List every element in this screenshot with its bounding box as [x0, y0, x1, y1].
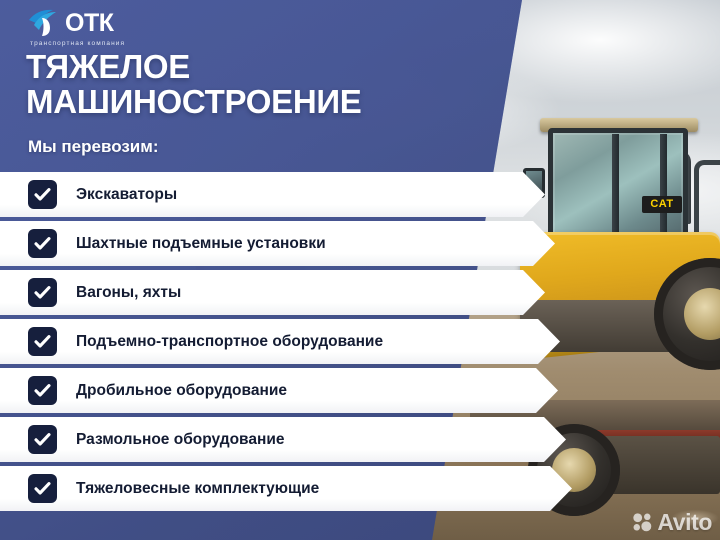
- ad-banner: CAT ОТК транспортная компания ТЯЖЕЛОЕ МА…: [0, 0, 720, 540]
- list-item-label: Вагоны, яхты: [76, 285, 181, 301]
- checkmark-icon: [33, 185, 52, 204]
- checkbox-checked[interactable]: [28, 180, 57, 209]
- list-item-label: Шахтные подъемные установки: [76, 236, 326, 252]
- checkbox-checked[interactable]: [28, 376, 57, 405]
- list-item[interactable]: Размольное оборудование: [0, 417, 720, 462]
- list-item-label: Экскаваторы: [76, 187, 177, 203]
- checkmark-icon: [33, 234, 52, 253]
- avito-circles-icon: [632, 512, 653, 533]
- headline-line-1: ТЯЖЕЛОЕ: [26, 48, 190, 85]
- list-item-label: Дробильное оборудование: [76, 383, 287, 399]
- list-item[interactable]: Экскаваторы: [0, 172, 720, 217]
- checkmark-icon: [33, 430, 52, 449]
- list-item-label: Тяжеловесные комплектующие: [76, 481, 319, 497]
- brand-logo-tagline: транспортная компания: [30, 41, 125, 48]
- otk-swoosh-icon: [28, 8, 62, 38]
- checkmark-icon: [33, 332, 52, 351]
- page-title: ТЯЖЕЛОЕ МАШИНОСТРОЕНИЕ: [26, 50, 496, 120]
- brand-logo-text: ОТК: [65, 11, 113, 36]
- headline-line-2: МАШИНОСТРОЕНИЕ: [26, 85, 496, 120]
- list-item[interactable]: Дробильное оборудование: [0, 368, 720, 413]
- brand-logo[interactable]: ОТК транспортная компания: [28, 8, 125, 48]
- avito-watermark-text: Avito: [657, 511, 712, 534]
- checkmark-icon: [33, 381, 52, 400]
- checkbox-checked[interactable]: [28, 425, 57, 454]
- checkbox-checked[interactable]: [28, 327, 57, 356]
- checkbox-checked[interactable]: [28, 278, 57, 307]
- service-list: ЭкскаваторыШахтные подъемные установкиВа…: [0, 172, 720, 515]
- checkbox-checked[interactable]: [28, 474, 57, 503]
- checkbox-checked[interactable]: [28, 229, 57, 258]
- brand-logo-row: ОТК: [28, 8, 113, 38]
- list-item[interactable]: Подъемно-транспортное оборудование: [0, 319, 720, 364]
- list-item-label: Подъемно-транспортное оборудование: [76, 334, 383, 350]
- checkmark-icon: [33, 479, 52, 498]
- list-item-label: Размольное оборудование: [76, 432, 285, 448]
- list-item[interactable]: Вагоны, яхты: [0, 270, 720, 315]
- checkmark-icon: [33, 283, 52, 302]
- list-item[interactable]: Тяжеловесные комплектующие: [0, 466, 720, 511]
- subhead: Мы перевозим:: [28, 138, 159, 155]
- list-item[interactable]: Шахтные подъемные установки: [0, 221, 720, 266]
- avito-watermark: Avito: [632, 511, 712, 534]
